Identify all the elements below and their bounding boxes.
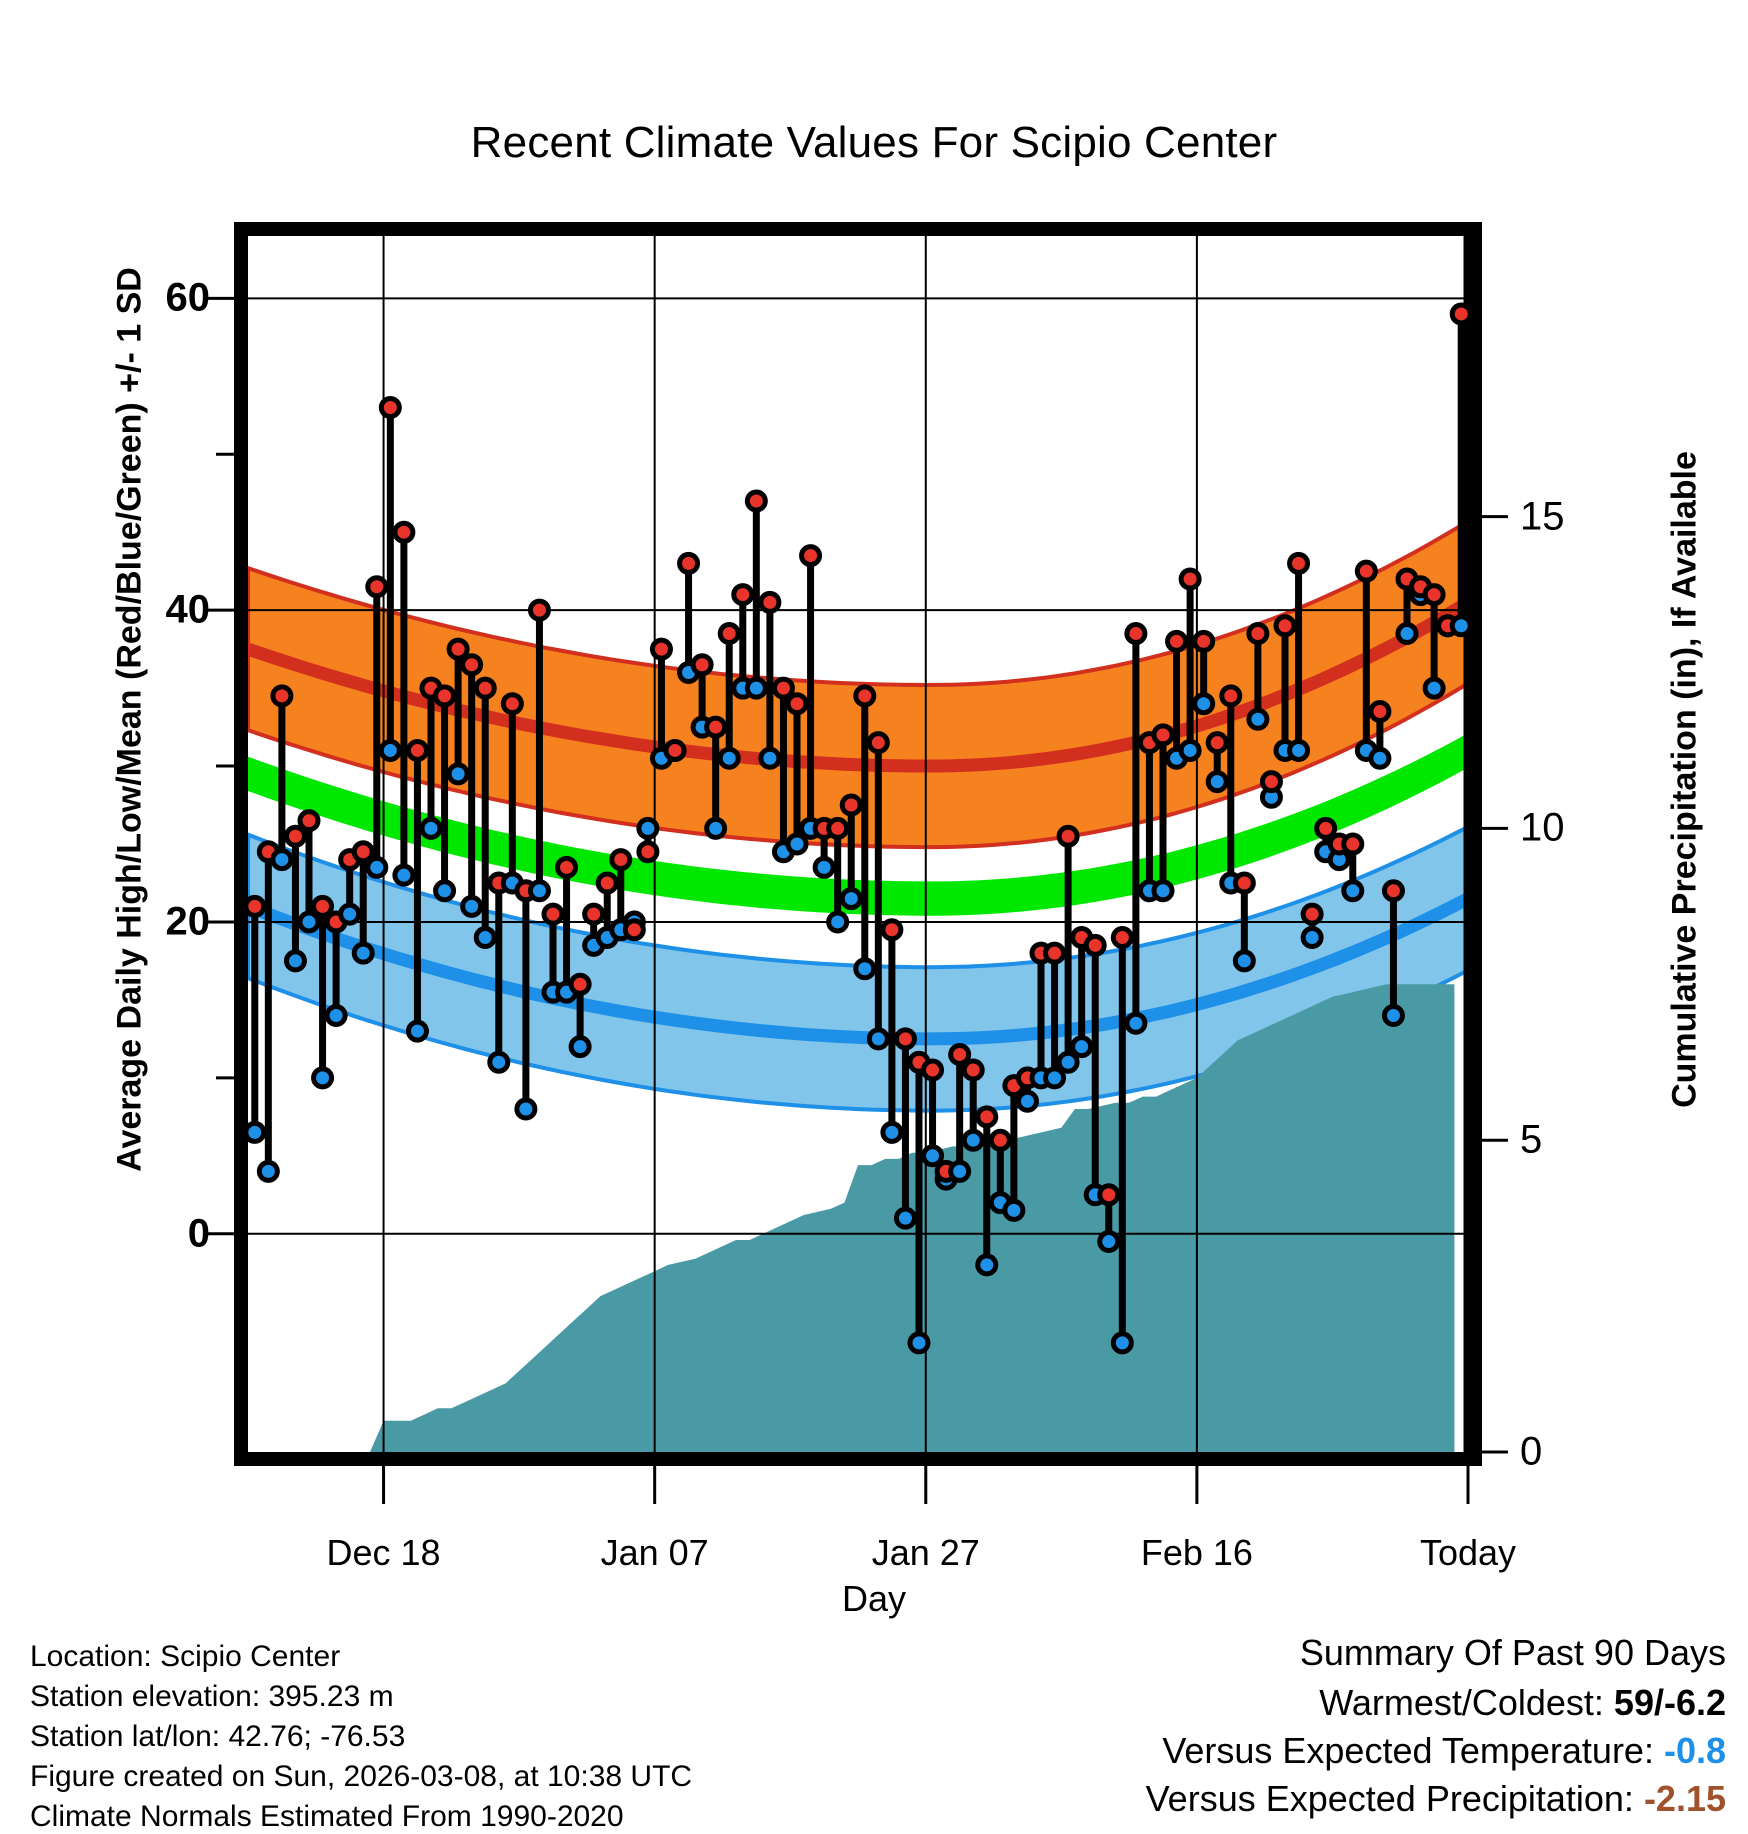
y-axis-left-tick: 0 (60, 1211, 210, 1256)
x-axis-tick-4: Today (1420, 1532, 1516, 1574)
metadata-line-3: Figure created on Sun, 2026-03-08, at 10… (30, 1760, 692, 1794)
chart-title: Recent Climate Values For Scipio Center (0, 118, 1748, 168)
y-axis-right-tick: 5 (1520, 1118, 1542, 1163)
summary-row-label: Versus Expected Temperature: (1162, 1730, 1664, 1771)
y-axis-left-tick: 20 (60, 899, 210, 944)
summary-row-2: Versus Expected Precipitation: -2.15 (1146, 1778, 1726, 1820)
metadata-line-0: Location: Scipio Center (30, 1640, 340, 1674)
metadata-line-4: Climate Normals Estimated From 1990-2020 (30, 1800, 624, 1834)
x-axis-tick-2: Jan 27 (872, 1532, 980, 1574)
y-axis-left-tick: 40 (60, 588, 210, 633)
y-axis-right-tick: 0 (1520, 1430, 1542, 1475)
x-axis-tick-0: Dec 18 (327, 1532, 441, 1574)
y-axis-right-tick: 10 (1520, 806, 1565, 851)
summary-row-label: Warmest/Coldest: (1319, 1682, 1614, 1723)
summary-heading: Summary Of Past 90 Days (1300, 1632, 1726, 1674)
summary-row-value: -0.8 (1664, 1730, 1726, 1771)
y-axis-right-label: Cumulative Precipitation (in), If Availa… (1666, 230, 1705, 1330)
y-axis-left-tick: 60 (60, 276, 210, 321)
metadata-line-2: Station lat/lon: 42.76; -76.53 (30, 1720, 405, 1754)
summary-row-1: Versus Expected Temperature: -0.8 (1162, 1730, 1726, 1772)
summary-row-value: -2.15 (1644, 1778, 1726, 1819)
x-axis-label: Day (0, 1578, 1748, 1620)
metadata-line-1: Station elevation: 395.23 m (30, 1680, 394, 1714)
summary-row-0: Warmest/Coldest: 59/-6.2 (1319, 1682, 1726, 1724)
x-axis-tick-1: Jan 07 (601, 1532, 709, 1574)
y-axis-right-tick: 15 (1520, 494, 1565, 539)
svg-text:90: 90 (1480, 1355, 1525, 1399)
y-axis-left-label: Average Daily High/Low/Mean (Red/Blue/Gr… (111, 170, 150, 1270)
summary-row-label: Versus Expected Precipitation: (1146, 1778, 1644, 1819)
x-axis-tick-3: Feb 16 (1141, 1532, 1253, 1574)
summary-row-value: 59/-6.2 (1614, 1682, 1726, 1723)
